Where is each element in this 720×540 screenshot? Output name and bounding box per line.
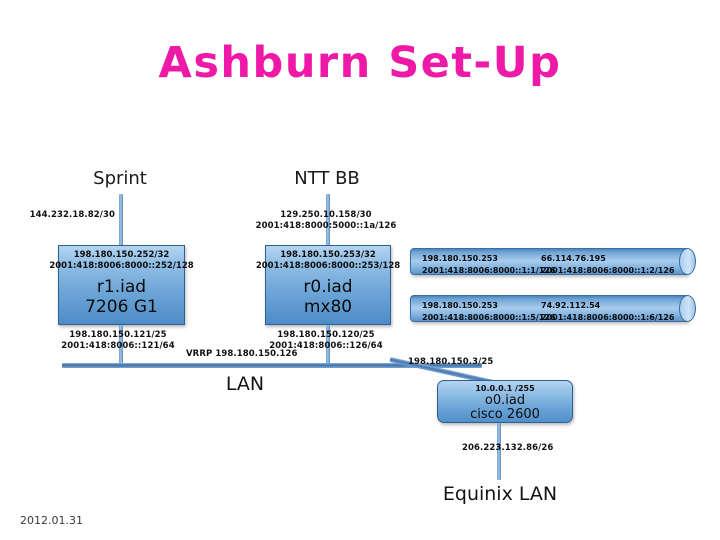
tunnel-2-local-v4: 198.180.150.253 [422, 301, 498, 310]
uplink-label-ntt-v4: 129.250.10.158/30 [251, 210, 401, 221]
tunnel-1-remote: 66.114.76.195 2001:418:8006:8000::1:2/12… [541, 253, 674, 276]
tunnel-1-local: 198.180.150.253 2001:418:8006:8000::1:1/… [422, 253, 555, 276]
tunnel-1-local-v6: 2001:418:8006:8000::1:1/126 [422, 266, 555, 275]
router-hostname-r0-iad: r0.iad [266, 278, 390, 297]
router-loopback-v4-r1-iad: 198.180.150.252/32 [74, 250, 170, 260]
router-model-r0-iad: mx80 [266, 298, 390, 317]
equinix-uplink-label: 206.223.132.86/26 [462, 443, 553, 454]
router-ip-o0-iad: 10.0.0.1 /255 [438, 384, 572, 393]
cylinder-cap-icon-2 [679, 295, 696, 322]
router-box-o0-iad[interactable]: 10.0.0.1 /255 o0.iad cisco 2600 [437, 380, 573, 423]
provider-label-ntt-bb: NTT BB [262, 168, 392, 189]
router-loopback-r0-iad: 198.180.150.253/32 2001:418:8006:8000::2… [234, 250, 422, 272]
router-loopback-v6-r1-iad: 2001:418:8006:8000::252/128 [49, 261, 193, 271]
downlink-label-r0-v4: 198.180.150.120/25 [256, 330, 396, 341]
page-title: Ashburn Set-Up [0, 38, 720, 88]
tunnel-2-local-v6: 2001:418:8006:8000::1:5/126 [422, 313, 555, 322]
equinix-lan-label: Equinix LAN [425, 483, 575, 505]
tunnel-2-remote-v6: 2001:418:8006:8000::1:6/126 [541, 313, 674, 322]
tunnel-2-local: 198.180.150.253 2001:418:8006:8000::1:5/… [422, 300, 555, 323]
connector-sprint-to-r1 [119, 194, 123, 246]
tunnel-2-remote: 74.92.112.54 2001:418:8006:8000::1:6/126 [541, 300, 674, 323]
downlink-label-r1-v4: 198.180.150.121/25 [48, 330, 188, 341]
lan-downlink-label: 198.180.150.3/25 [408, 357, 493, 368]
slide-canvas: Ashburn Set-Up Sprint NTT BB 144.232.18.… [0, 0, 720, 540]
router-loopback-r1-iad: 198.180.150.252/32 2001:418:8006:8000::2… [27, 250, 216, 272]
uplink-label-sprint: 144.232.18.82/30 [10, 210, 115, 221]
tunnel-cylinder-1[interactable]: 198.180.150.253 2001:418:8006:8000::1:1/… [410, 248, 688, 275]
router-box-r0-iad[interactable]: 198.180.150.253/32 2001:418:8006:8000::2… [265, 245, 391, 325]
router-model-o0-iad: cisco 2600 [438, 407, 572, 423]
slide-date: 2012.01.31 [20, 514, 83, 527]
tunnel-cylinder-2[interactable]: 198.180.150.253 2001:418:8006:8000::1:5/… [410, 295, 688, 322]
lan-vrrp-label: VRRP 198.180.150.126 [186, 349, 298, 360]
tunnel-2-remote-v4: 74.92.112.54 [541, 301, 600, 310]
uplink-label-ntt-v6: 2001:418:8000:5000::1a/126 [251, 221, 401, 232]
router-loopback-v4-r0-iad: 198.180.150.253/32 [280, 250, 376, 260]
router-loopback-v6-r0-iad: 2001:418:8006:8000::253/128 [256, 261, 400, 271]
lan-label: LAN [175, 373, 315, 395]
tunnel-1-remote-v4: 66.114.76.195 [541, 254, 606, 263]
router-hostname-r1-iad: r1.iad [59, 278, 184, 297]
router-model-r1-iad: 7206 G1 [59, 298, 184, 317]
tunnel-1-local-v4: 198.180.150.253 [422, 254, 498, 263]
downlink-label-r1-v6: 2001:418:8006::121/64 [48, 341, 188, 352]
tunnel-1-remote-v6: 2001:418:8006:8000::1:2/126 [541, 266, 674, 275]
router-box-r1-iad[interactable]: 198.180.150.252/32 2001:418:8006:8000::2… [58, 245, 185, 325]
provider-label-sprint: Sprint [55, 168, 185, 189]
cylinder-cap-icon-1 [679, 248, 696, 275]
